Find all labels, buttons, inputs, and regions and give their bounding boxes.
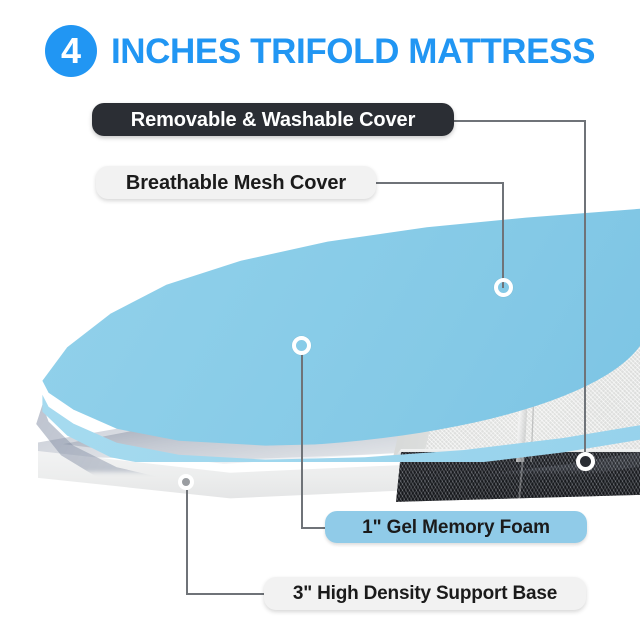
callout-dot-gel-foam [292, 336, 311, 355]
connector-line-support-base [186, 490, 188, 594]
gel-memory-foam-layer [30, 208, 640, 470]
connector-line-mesh-cover [502, 182, 504, 288]
connector-line-support-base [186, 593, 266, 595]
page-header: 4 INCHES TRIFOLD MATTRESS [0, 20, 640, 82]
label-removable-washable-cover: Removable & Washable Cover [92, 103, 454, 136]
connector-line-removable-cover [452, 120, 586, 122]
label-breathable-mesh-cover: Breathable Mesh Cover [96, 166, 376, 199]
inches-badge: 4 [45, 25, 97, 77]
label-high-density-support-base: 3" High Density Support Base [264, 577, 586, 610]
page-title: INCHES TRIFOLD MATTRESS [111, 34, 595, 69]
connector-line-gel-foam [301, 352, 303, 528]
product-illustration [0, 0, 640, 640]
connector-line-removable-cover [584, 120, 586, 461]
callout-dot-mesh-cover [494, 278, 513, 297]
label-gel-memory-foam: 1" Gel Memory Foam [325, 511, 587, 543]
foam-top-surface [30, 208, 640, 448]
callout-dot-support-base [178, 474, 194, 490]
callout-dot-removable-cover [576, 452, 595, 471]
connector-line-mesh-cover [374, 182, 504, 184]
